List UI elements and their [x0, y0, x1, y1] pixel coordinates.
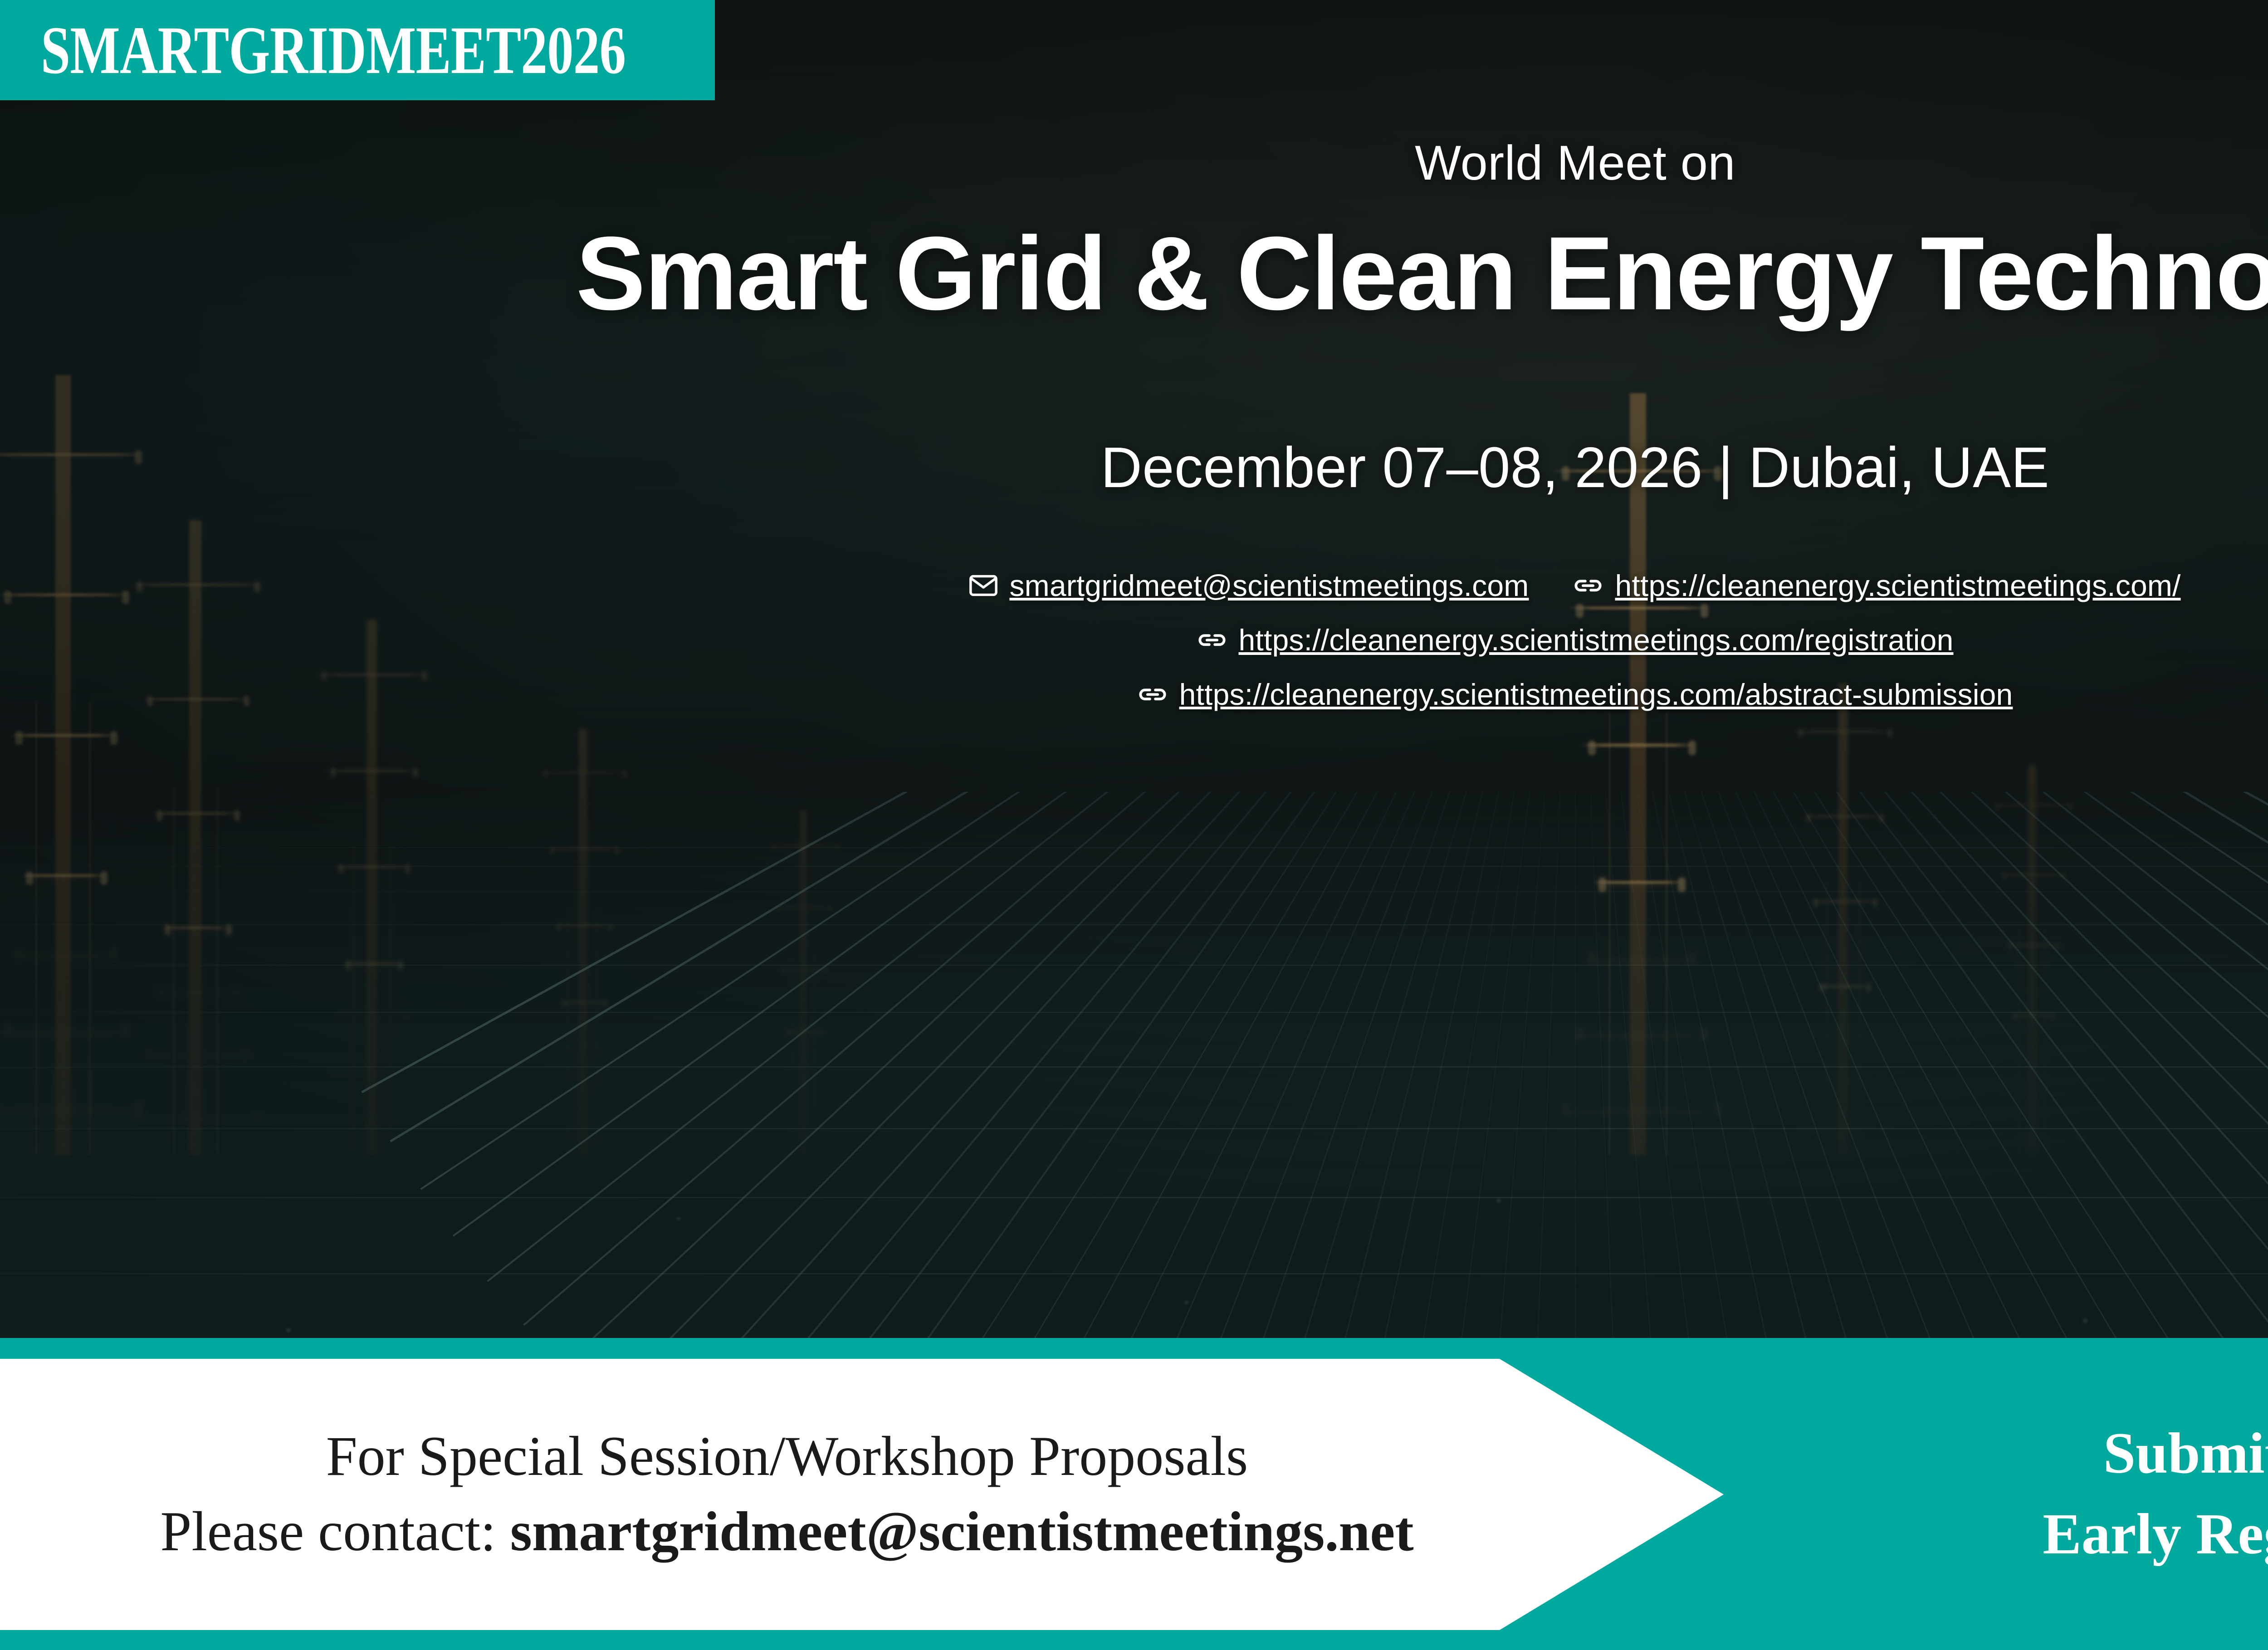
hero-content: World Meet on Smart Grid & Clean Energy …	[0, 0, 2268, 1338]
event-date: December 07–08, 2026	[1101, 435, 1703, 499]
contact-email[interactable]: smartgridmeet@scientistmeetings.net	[510, 1500, 1414, 1562]
abstract-submission-link[interactable]: https://cleanenergy.scientistmeetings.co…	[1138, 677, 2013, 712]
page-title: Smart Grid & Clean Energy Technologies	[576, 220, 2268, 327]
contact-block: smartgridmeet@scientistmeetings.com http…	[969, 568, 2180, 732]
email-text: smartgridmeet@scientistmeetings.com	[1009, 568, 1529, 603]
contact-prefix: Please contact:	[160, 1500, 510, 1562]
early-registration-heading: Early Registration Now Available	[2043, 1497, 2268, 1572]
date-location-separator: |	[1703, 434, 1749, 500]
event-date-location: December 07–08, 2026|Dubai, UAE	[1101, 434, 2049, 500]
contact-row-primary: smartgridmeet@scientistmeetings.com http…	[969, 568, 2180, 603]
registration-text: https://cleanenergy.scientistmeetings.co…	[1239, 623, 1954, 657]
conference-banner: SMARTGRIDMEET2026 World Meet on Smart Gr…	[0, 0, 2268, 1650]
special-session-heading: For Special Session/Workshop Proposals	[82, 1421, 1492, 1492]
link-icon	[1573, 575, 1603, 596]
special-session-contact-line: Please contact: smartgridmeet@scientistm…	[82, 1496, 1492, 1567]
email-link[interactable]: smartgridmeet@scientistmeetings.com	[969, 568, 1529, 603]
link-icon	[1138, 684, 1168, 705]
link-icon	[1197, 630, 1227, 650]
submit-abstract-panel[interactable]: Submit Your Abstract Today Early Registr…	[1724, 1338, 2268, 1650]
abstract-submission-text: https://cleanenergy.scientistmeetings.co…	[1179, 677, 2013, 712]
special-session-panel[interactable]: For Special Session/Workshop Proposals P…	[0, 1338, 1724, 1650]
website-text: https://cleanenergy.scientistmeetings.co…	[1615, 568, 2180, 603]
special-session-text: For Special Session/Workshop Proposals P…	[82, 1421, 1642, 1567]
envelope-icon	[969, 575, 997, 596]
event-eyebrow: World Meet on	[1415, 136, 1735, 190]
event-location: Dubai, UAE	[1749, 435, 2049, 499]
website-link[interactable]: https://cleanenergy.scientistmeetings.co…	[1573, 568, 2180, 603]
submit-abstract-heading: Submit Your Abstract Today	[2103, 1416, 2268, 1491]
registration-link[interactable]: https://cleanenergy.scientistmeetings.co…	[1197, 623, 1954, 657]
contact-row-registration: https://cleanenergy.scientistmeetings.co…	[1197, 623, 1954, 657]
contact-row-abstract: https://cleanenergy.scientistmeetings.co…	[1138, 677, 2013, 712]
bottom-call-to-action-bar: For Special Session/Workshop Proposals P…	[0, 1338, 2268, 1650]
logo-text: SMARTGRIDMEET2026	[41, 16, 626, 84]
logo-badge[interactable]: SMARTGRIDMEET2026	[0, 0, 715, 100]
